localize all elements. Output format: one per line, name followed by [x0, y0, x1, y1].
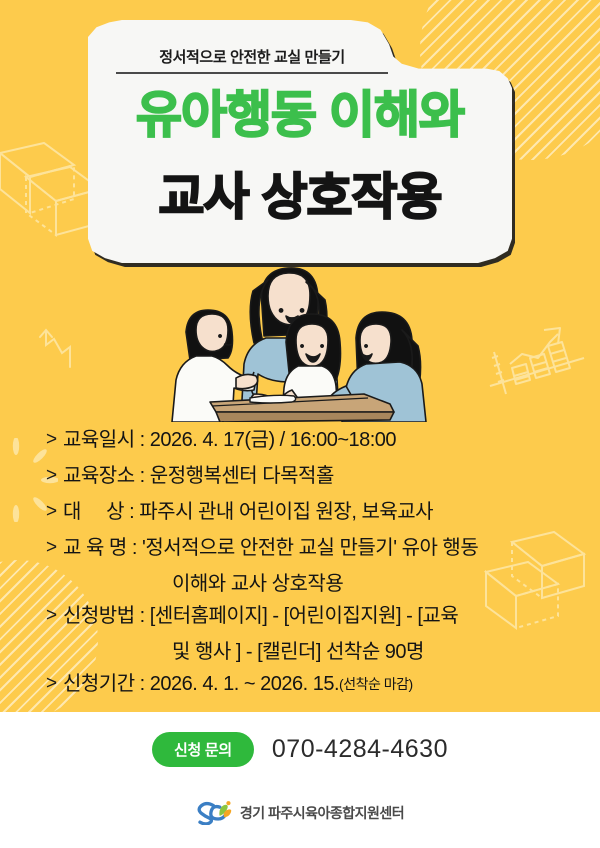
zigzag-arrow-decoration [38, 325, 78, 373]
title-card-content: 정서적으로 안전한 교실 만들기 유아행동 이해와 교사 상호작용 [88, 20, 512, 263]
info-continuation-apply-method: 및 행사 ] - [캘린더] 선착순 90명 [172, 636, 558, 668]
info-value: 2026. 4. 1. ~ 2026. 15. [150, 668, 339, 700]
info-row-apply-period: > 신청기간 : 2026. 4. 1. ~ 2026. 15. (선착순 마감… [46, 668, 558, 700]
title-line-2: 교사 상호작용 [88, 172, 512, 222]
chevron-icon: > [46, 668, 63, 700]
illustration-svg [150, 256, 450, 422]
info-value: [센터홈페이지] - [어린이집지원] - [교육 [150, 600, 458, 632]
info-row-venue: > 교육장소 : 운정행복센터 다목적홀 [46, 460, 558, 492]
chevron-icon: > [46, 424, 63, 456]
bar-chart-arrow-decoration-right [488, 308, 598, 438]
info-separator: : [140, 424, 150, 456]
kicker-divider [116, 72, 388, 74]
contact-pill-badge: 신청 문의 [152, 732, 254, 767]
chevron-icon: > [46, 460, 63, 492]
info-row-schedule: > 교육일시 : 2026. 4. 17(금) / 16:00~18:00 [46, 424, 558, 456]
info-value: '정서적으로 안전한 교실 만들기' 유아 행동 [142, 532, 478, 564]
contact-block: 신청 문의 070-4284-4630 [0, 732, 600, 767]
info-label: 교 육 명 [63, 532, 132, 564]
info-value: 운정행복센터 다목적홀 [150, 460, 334, 492]
info-separator: : [140, 460, 150, 492]
illustration-teacher-and-children [150, 256, 450, 422]
contact-phone-number[interactable]: 070-4284-4630 [272, 735, 448, 764]
brand-block: 경기 파주시육아종합지원센터 [0, 800, 600, 826]
info-value: 2026. 4. 17(금) / 16:00~18:00 [150, 424, 396, 456]
title-line-1: 유아행동 이해와 [88, 90, 512, 140]
info-row-apply-method: > 신청방법 : [센터홈페이지] - [어린이집지원] - [교육 [46, 600, 558, 632]
info-separator: : [129, 496, 139, 528]
brand-name-label: 경기 파주시육아종합지원센터 [240, 803, 404, 823]
info-label: 교육일시 [63, 424, 140, 456]
info-value: 파주시 관내 어린이집 원장, 보육교사 [139, 496, 433, 528]
info-list: > 교육일시 : 2026. 4. 17(금) / 16:00~18:00 > … [46, 424, 558, 704]
info-label: 신청방법 [63, 600, 140, 632]
kicker-text: 정서적으로 안전한 교실 만들기 [118, 46, 386, 67]
chevron-icon: > [46, 600, 63, 632]
info-label: 대 상 [63, 496, 129, 528]
chevron-icon: > [46, 496, 63, 528]
info-label: 신청기간 [63, 668, 140, 700]
info-row-course-name: > 교 육 명 : '정서적으로 안전한 교실 만들기' 유아 행동 [46, 532, 558, 564]
info-label: 교육장소 [63, 460, 140, 492]
poster-footer: 신청 문의 070-4284-4630 경기 파주시육아종합지원센터 [0, 712, 600, 848]
poster: 정서적으로 안전한 교실 만들기 유아행동 이해와 교사 상호작용 [0, 0, 600, 848]
info-note: (선착순 마감) [339, 668, 413, 700]
info-separator: : [140, 600, 150, 632]
chevron-icon: > [46, 532, 63, 564]
info-continuation-course-name: 이해와 교사 상호작용 [172, 568, 558, 600]
poster-background: 정서적으로 안전한 교실 만들기 유아행동 이해와 교사 상호작용 [0, 0, 600, 712]
sc-swirl-logo-icon [196, 800, 234, 826]
info-separator: : [132, 532, 142, 564]
info-row-audience: > 대 상 : 파주시 관내 어린이집 원장, 보육교사 [46, 496, 558, 528]
info-separator: : [140, 668, 150, 700]
title-card: 정서적으로 안전한 교실 만들기 유아행동 이해와 교사 상호작용 [88, 20, 512, 263]
